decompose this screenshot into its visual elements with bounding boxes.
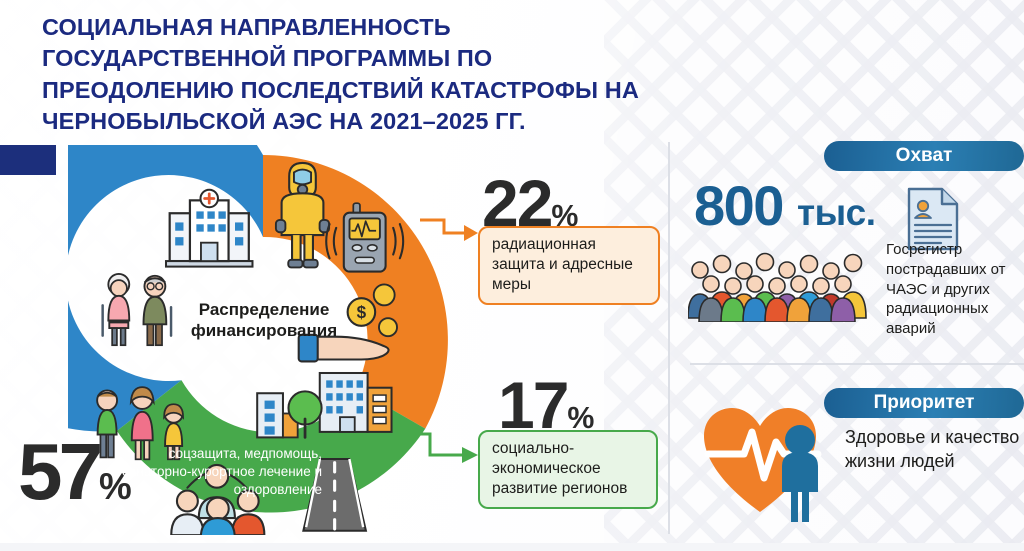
badge-coverage: Охват <box>824 141 1024 171</box>
percent-number-blue: 57 <box>18 427 99 516</box>
svg-text:$: $ <box>357 303 367 322</box>
bottom-strip <box>0 543 1024 551</box>
infographic-root: СОЦИАЛЬНАЯ НАПРАВЛЕННОСТЬ ГОСУДАРСТВЕННО… <box>0 0 1024 551</box>
callout-label-orange: радиационная защита и адресные меры <box>478 226 660 305</box>
horizontal-divider <box>690 363 1024 365</box>
heart-pulse-icon <box>700 404 840 529</box>
coverage-number-value: 800 <box>694 174 783 237</box>
crowd-of-people-icon <box>688 240 878 327</box>
coverage-description: Госрегистр пострадавших от ЧАЭС и других… <box>886 240 1024 339</box>
coverage-number-unit: тыс. <box>797 192 875 233</box>
callout-orange-22: 22% радиационная защита и адресные меры <box>470 170 670 310</box>
percent-symbol-blue: % <box>99 466 132 507</box>
callout-label-green: социально-экономическое развитие регионо… <box>478 430 658 509</box>
callout-green-17: 17% социально-экономическое развитие рег… <box>470 372 670 517</box>
elderly-couple-icon <box>103 274 171 345</box>
percent-value-blue: 57% <box>18 432 132 512</box>
percent-value-green: 17% <box>498 372 594 438</box>
hand-with-coins-icon: $ <box>299 284 397 361</box>
badge-priority: Приоритет <box>824 388 1024 418</box>
standing-person-icon <box>782 425 818 522</box>
page-title: СОЦИАЛЬНАЯ НАПРАВЛЕННОСТЬ ГОСУДАРСТВЕННО… <box>42 12 682 137</box>
priority-description: Здоровье и качество жизни людей <box>845 425 1024 474</box>
coverage-number: 800 тыс. <box>694 178 875 234</box>
navy-accent-tab <box>0 145 56 175</box>
